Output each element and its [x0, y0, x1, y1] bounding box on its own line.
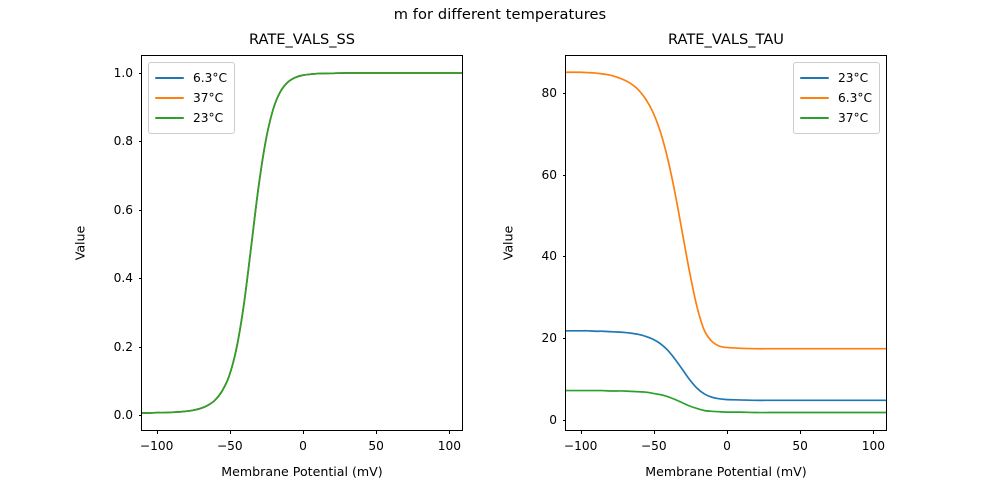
y-tick-mark	[139, 415, 143, 416]
y-tick-label: 0.0	[114, 408, 133, 422]
axes-rate-vals-ss: RATE_VALS_SS −100−50050100 0.00.20.40.60…	[141, 55, 463, 431]
x-tick-label: 50	[792, 439, 808, 453]
legend-entry[interactable]: 6.3°C	[155, 68, 227, 88]
x-tick-mark	[873, 430, 874, 434]
y-tick-label: 1.0	[114, 66, 133, 80]
x-tick-label: −50	[217, 439, 243, 453]
y-tick-label: 80	[541, 86, 557, 100]
y-tick-mark	[563, 338, 567, 339]
legend-label: 37°C	[193, 91, 223, 105]
x-tick-label: 100	[438, 439, 461, 453]
y-tick-label: 0.8	[114, 134, 133, 148]
legend-line-swatch-icon	[800, 117, 829, 119]
y-tick-label: 0.4	[114, 271, 133, 285]
line-series	[566, 331, 886, 401]
x-tick-mark	[654, 430, 655, 434]
x-tick-label: −50	[641, 439, 667, 453]
y-tick-mark	[139, 73, 143, 74]
y-tick-label: 0.2	[114, 340, 133, 354]
y-axis-label-left: Value	[73, 226, 88, 261]
y-tick-label: 0.6	[114, 203, 133, 217]
y-tick-label: 20	[541, 331, 557, 345]
legend-line-swatch-icon	[800, 77, 829, 79]
legend-left[interactable]: 6.3°C37°C23°C	[148, 62, 235, 134]
legend-line-swatch-icon	[800, 97, 829, 99]
x-tick-mark	[800, 430, 801, 434]
legend-entry[interactable]: 23°C	[155, 108, 227, 128]
line-series	[566, 391, 886, 413]
x-tick-label: 0	[723, 439, 731, 453]
legend-entry[interactable]: 23°C	[800, 68, 872, 88]
x-tick-label: −100	[140, 439, 173, 453]
x-axis-label-right: Membrane Potential (mV)	[566, 464, 886, 479]
legend-entry[interactable]: 37°C	[800, 108, 872, 128]
x-tick-mark	[449, 430, 450, 434]
legend-label: 6.3°C	[838, 91, 872, 105]
matplotlib-figure: m for different temperatures RATE_VALS_S…	[0, 0, 1000, 500]
x-tick-mark	[581, 430, 582, 434]
axes-rate-vals-tau: RATE_VALS_TAU −100−50050100 020406080 Me…	[565, 55, 887, 431]
y-tick-label: 40	[541, 249, 557, 263]
x-tick-label: 50	[368, 439, 384, 453]
y-tick-mark	[563, 256, 567, 257]
y-tick-mark	[139, 278, 143, 279]
x-tick-mark	[727, 430, 728, 434]
y-tick-mark	[139, 347, 143, 348]
x-axis-label-left: Membrane Potential (mV)	[142, 464, 462, 479]
axes-title-right: RATE_VALS_TAU	[566, 31, 886, 48]
x-tick-mark	[303, 430, 304, 434]
legend-entry[interactable]: 37°C	[155, 88, 227, 108]
legend-line-swatch-icon	[155, 117, 184, 119]
y-tick-mark	[139, 141, 143, 142]
y-tick-mark	[563, 93, 567, 94]
legend-label: 37°C	[838, 111, 868, 125]
legend-label: 23°C	[838, 71, 868, 85]
legend-label: 6.3°C	[193, 71, 227, 85]
y-axis-label-right: Value	[501, 226, 516, 261]
x-tick-label: −100	[564, 439, 597, 453]
y-tick-label: 0	[549, 413, 557, 427]
legend-right[interactable]: 23°C6.3°C37°C	[793, 62, 880, 134]
x-tick-mark	[230, 430, 231, 434]
y-tick-mark	[563, 420, 567, 421]
legend-line-swatch-icon	[155, 77, 184, 79]
x-tick-mark	[376, 430, 377, 434]
y-tick-mark	[139, 210, 143, 211]
y-tick-label: 60	[541, 168, 557, 182]
x-tick-label: 100	[862, 439, 885, 453]
legend-line-swatch-icon	[155, 97, 184, 99]
x-tick-label: 0	[299, 439, 307, 453]
y-tick-mark	[563, 175, 567, 176]
legend-label: 23°C	[193, 111, 223, 125]
legend-entry[interactable]: 6.3°C	[800, 88, 872, 108]
x-tick-mark	[157, 430, 158, 434]
figure-suptitle: m for different temperatures	[0, 6, 1000, 23]
axes-title-left: RATE_VALS_SS	[142, 31, 462, 48]
